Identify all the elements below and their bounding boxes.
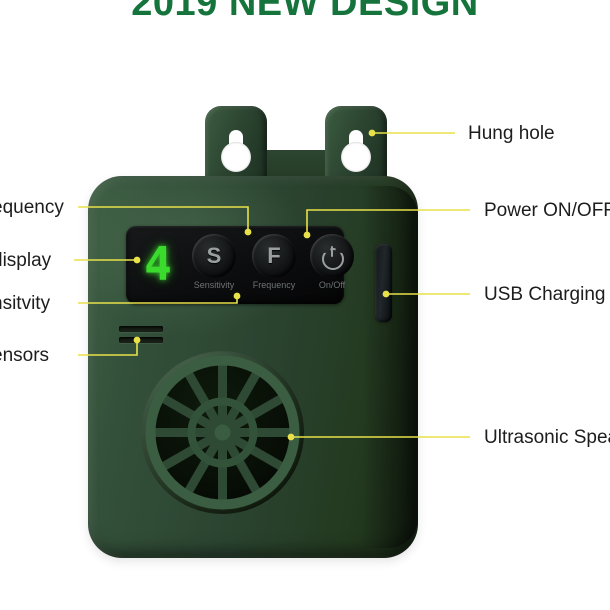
label-usb-charging-port: USB Charging Po [484, 285, 610, 304]
product-diagram: 2019 NEW DESIGN 4 S [0, 0, 610, 610]
label-pir-sensors: ensors [0, 346, 49, 365]
label-led-display: display [0, 251, 51, 270]
leader-pir-sensors [78, 340, 137, 355]
leader-sensitivity [78, 296, 237, 303]
label-hung-hole: Hung hole [468, 124, 555, 143]
leader-endpoint-dots [134, 130, 390, 441]
label-ultrasonic-speaker: Ultrasonic Speak [484, 428, 610, 447]
leader-power [307, 210, 470, 235]
label-power-on-off: Power ON/OFF [484, 201, 610, 220]
label-sensitivity: nsitvity [0, 294, 50, 313]
leader-frequency [78, 207, 248, 232]
label-frequency: equency [0, 198, 64, 217]
leader-lines [0, 0, 610, 610]
